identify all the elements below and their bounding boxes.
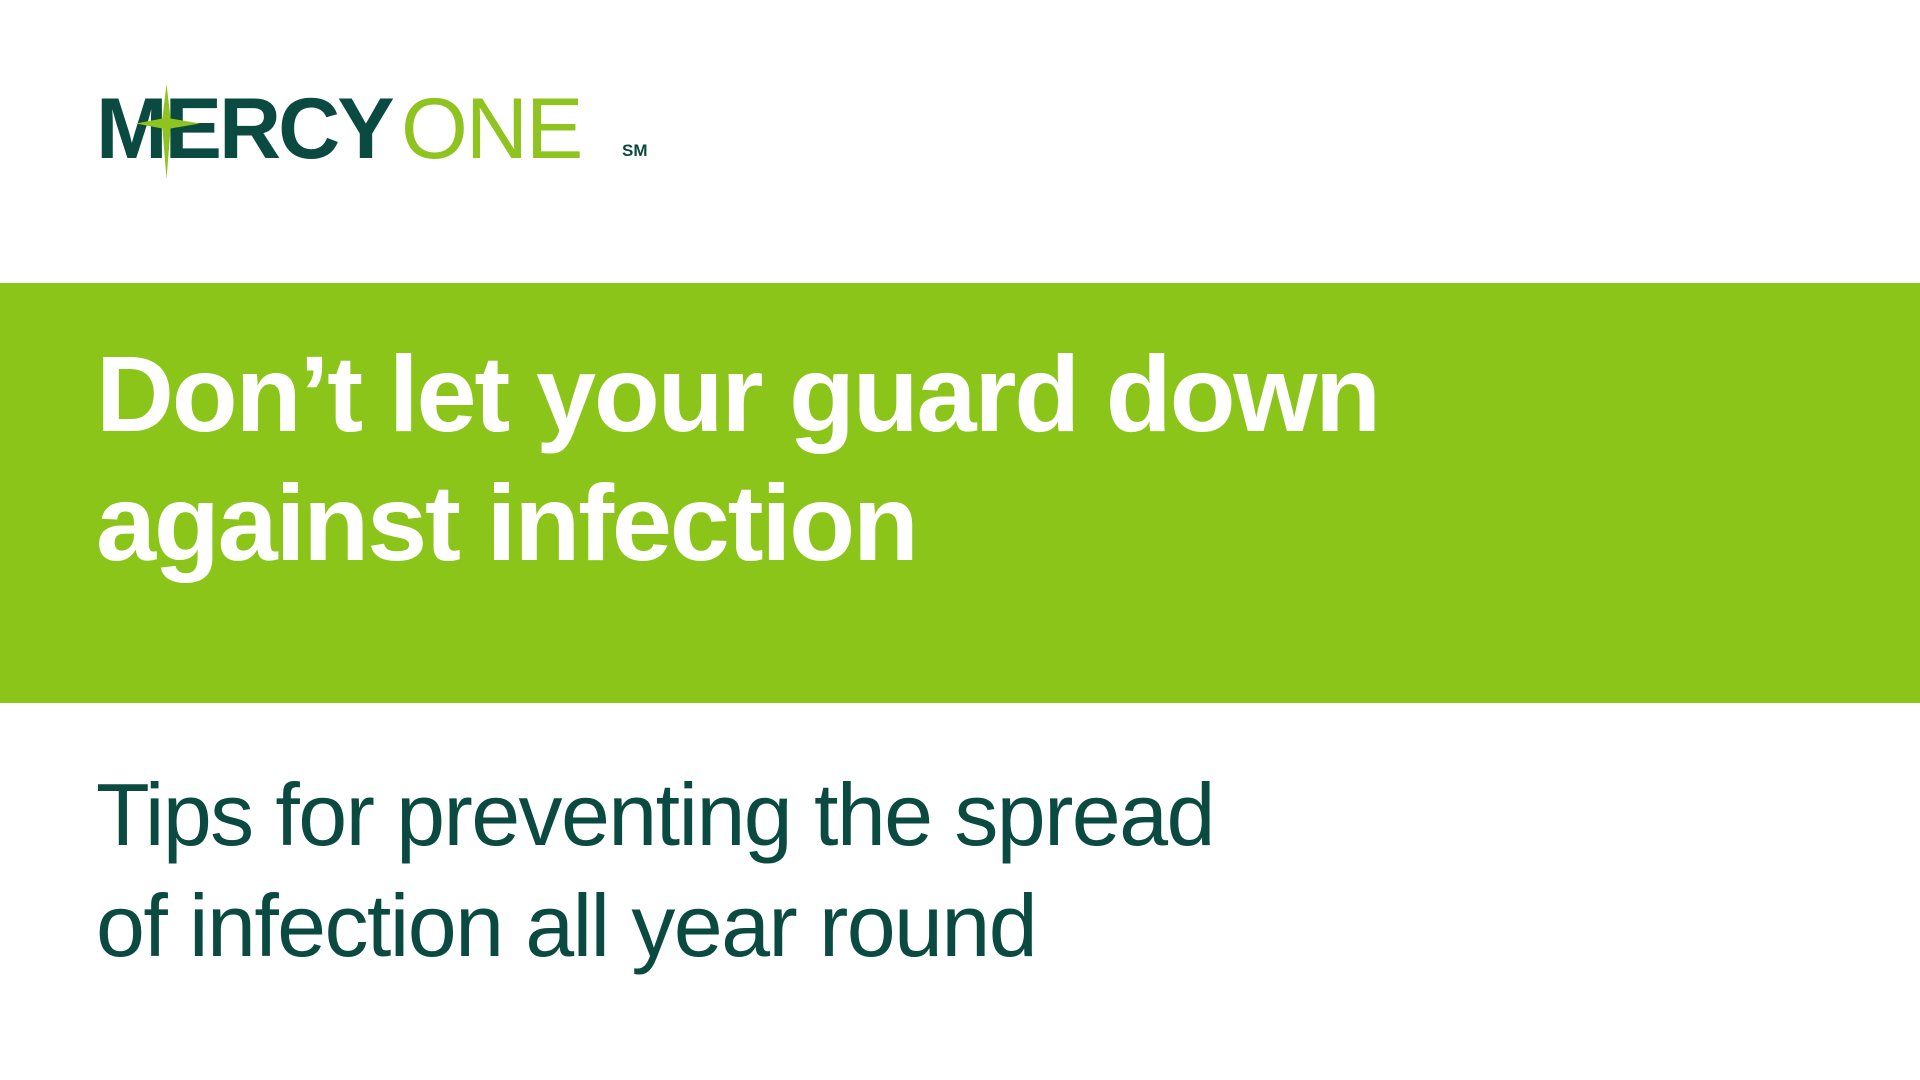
mercyone-logo[interactable]: MERCY ONE SM xyxy=(96,86,716,182)
mercyone-logo-lockup: MERCY ONE SM xyxy=(96,82,716,182)
logo-service-mark: SM xyxy=(622,141,648,160)
logo-one-text: ONE xyxy=(401,82,581,177)
page-subtitle: Tips for preventing the spread of infect… xyxy=(96,760,1796,982)
logo-mercy-text: MERCY xyxy=(96,82,393,177)
page-title: Don’t let your guard down against infect… xyxy=(96,330,1826,587)
mercyone-wordmark-svg: MERCY ONE SM xyxy=(96,82,716,182)
poster-canvas: MERCY ONE SM Don’t let your guard down a… xyxy=(0,0,1920,1080)
